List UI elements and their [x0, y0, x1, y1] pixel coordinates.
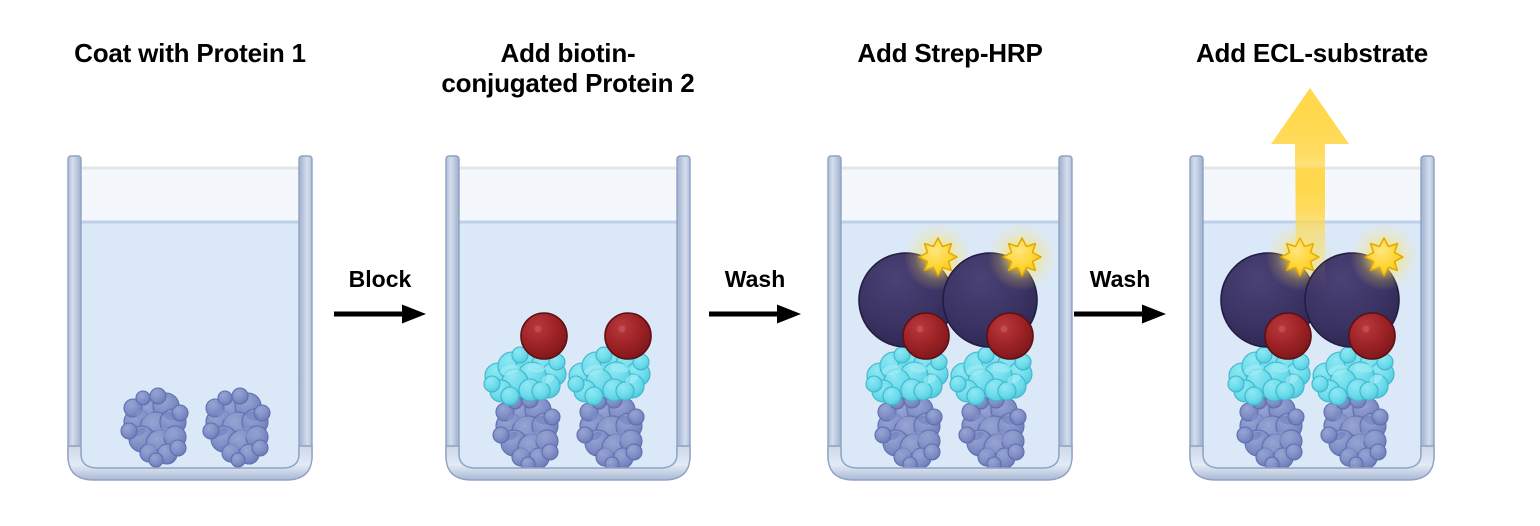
well-graphic	[822, 150, 1078, 490]
diagram-canvas: Coat with Protein 1 Block	[0, 0, 1540, 526]
biotin-sphere	[987, 313, 1033, 359]
well-graphic	[440, 150, 696, 490]
biotin-sphere	[1265, 313, 1311, 359]
biotin-sphere	[605, 313, 651, 359]
biotin-sphere	[903, 313, 949, 359]
step-4-well	[1184, 150, 1440, 490]
step-1-well	[62, 150, 318, 490]
well-graphic	[62, 150, 318, 490]
well-graphic	[1184, 150, 1440, 490]
biotin-sphere	[521, 313, 567, 359]
signal-burst-icon	[988, 223, 1056, 291]
step-4-title: Add ECL-substrate	[1122, 38, 1502, 68]
step-2-well	[440, 150, 696, 490]
step-4: Add ECL-substrate	[1122, 0, 1502, 526]
biotin-sphere	[1349, 313, 1395, 359]
signal-burst-icon	[1350, 223, 1418, 291]
step-3-well	[822, 150, 1078, 490]
